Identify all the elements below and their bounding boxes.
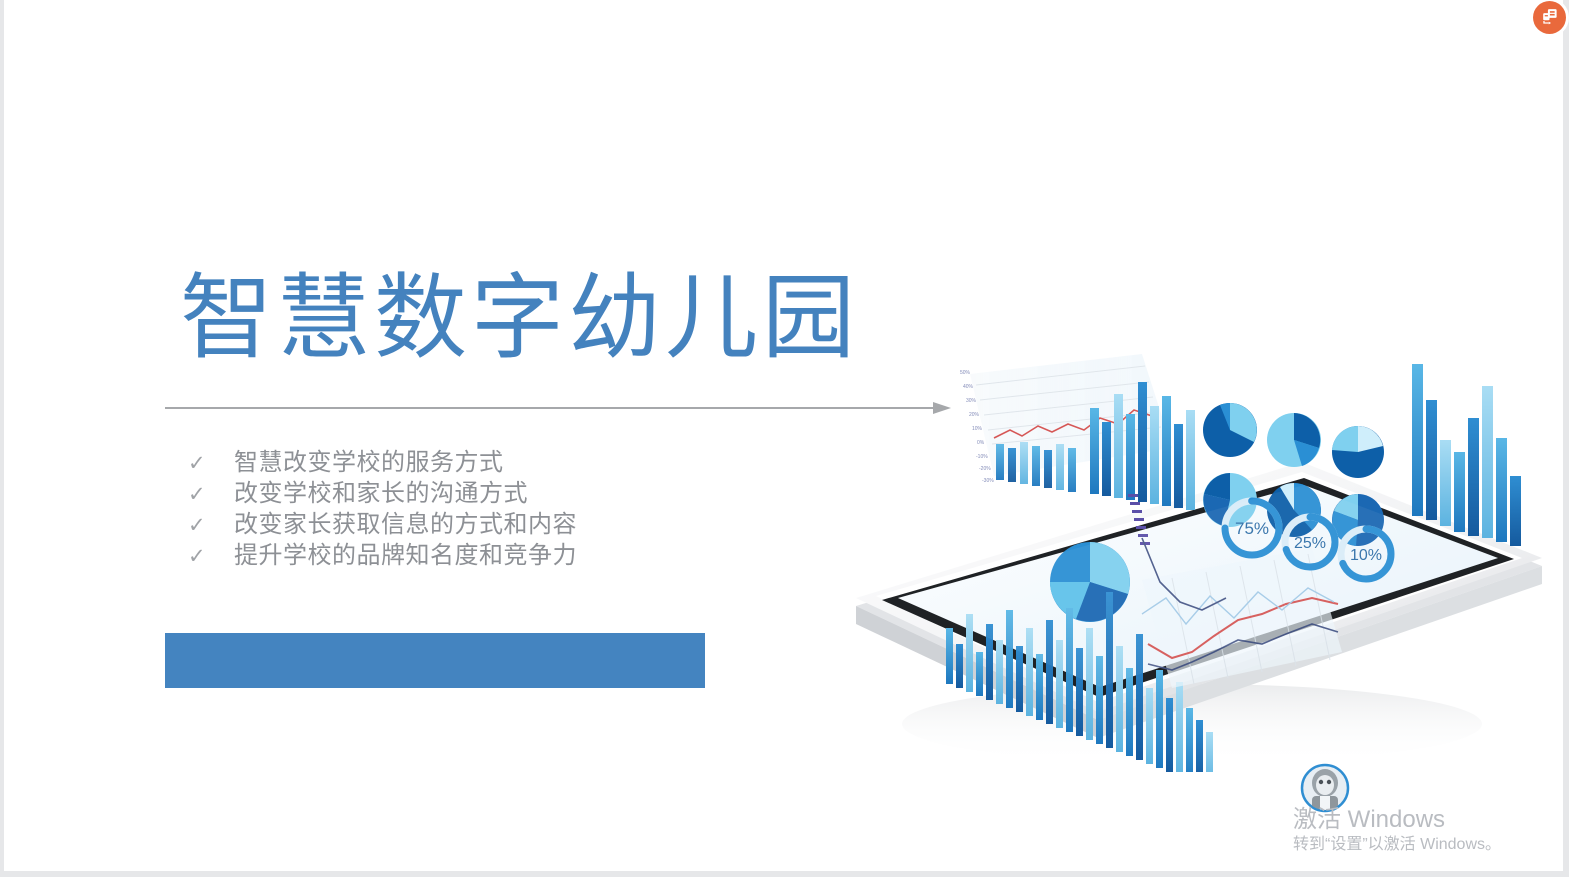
check-icon: ✓	[182, 451, 234, 475]
list-item: ✓ 智慧改变学校的服务方式	[182, 442, 702, 473]
list-item-label: 提升学校的品牌知名度和竞争力	[234, 535, 577, 570]
svg-text:-10%: -10%	[976, 454, 988, 460]
svg-text:50%: 50%	[960, 370, 971, 376]
accent-bar	[165, 633, 705, 688]
list-item-label: 改变家长获取信息的方式和内容	[234, 504, 577, 539]
svg-text:30%: 30%	[966, 398, 977, 404]
page-title: 智慧数字幼儿园	[180, 264, 859, 372]
bullet-list: ✓ 智慧改变学校的服务方式 ✓ 改变学校和家长的沟通方式 ✓ 改变家长获取信息的…	[182, 442, 702, 566]
presentation-window: 智慧数字幼儿园 ✓ 智慧改变学校的服务方式 ✓ 改变学校和家长的沟通方式 ✓ 改…	[0, 0, 1569, 877]
svg-text:40%: 40%	[963, 384, 974, 390]
svg-text:-30%: -30%	[982, 478, 994, 484]
screen-cast-icon	[1540, 6, 1559, 30]
arrow-divider	[165, 399, 951, 417]
slide-canvas: 智慧数字幼儿园 ✓ 智慧改变学校的服务方式 ✓ 改变学校和家长的沟通方式 ✓ 改…	[4, 0, 1563, 871]
svg-text:-20%: -20%	[979, 466, 991, 472]
list-item: ✓ 改变学校和家长的沟通方式	[182, 473, 702, 504]
list-item: ✓ 改变家长获取信息的方式和内容	[182, 504, 702, 535]
svg-text:10%: 10%	[972, 426, 983, 432]
list-item-label: 智慧改变学校的服务方式	[234, 442, 504, 477]
tablet-charts-illustration: 58pic.com	[842, 352, 1563, 772]
activation-subtitle: 转到“设置”以激活 Windows。	[1293, 834, 1558, 856]
check-icon: ✓	[182, 482, 234, 506]
windows-activation-watermark: 激活 Windows 转到“设置”以激活 Windows。	[1293, 806, 1558, 856]
list-item-label: 改变学校和家长的沟通方式	[234, 473, 528, 508]
activation-title: 激活 Windows	[1293, 806, 1558, 834]
screen-cast-button[interactable]	[1533, 1, 1566, 34]
svg-text:20%: 20%	[969, 412, 980, 418]
list-item: ✓ 提升学校的品牌知名度和竞争力	[182, 535, 702, 566]
check-icon: ✓	[182, 513, 234, 537]
check-icon: ✓	[182, 544, 234, 568]
svg-text:0%: 0%	[977, 440, 985, 446]
